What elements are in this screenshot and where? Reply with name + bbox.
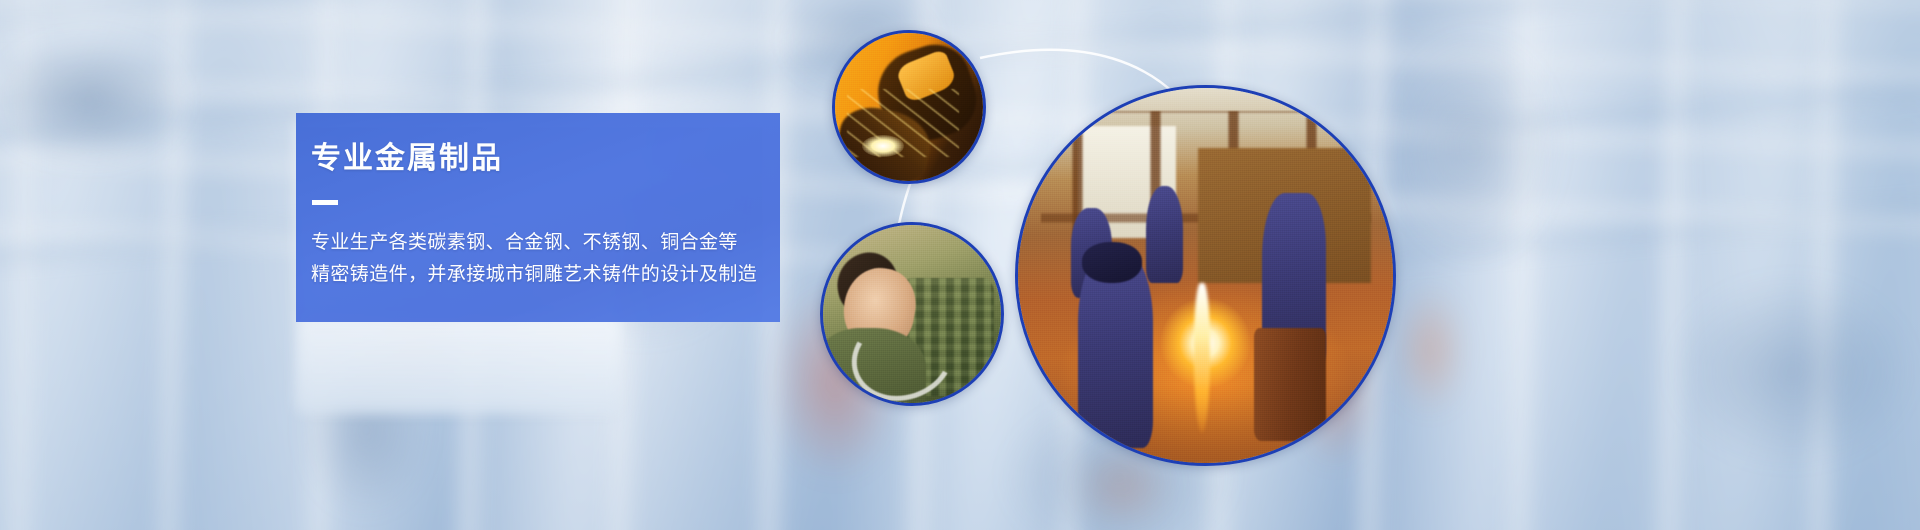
text-panel: 专业金属制品 专业生产各类碳素钢、合金钢、不锈钢、铜合金等 精密铸造件，并承接城… — [296, 113, 780, 322]
panel-description-line-2: 精密铸造件，并承接城市铜雕艺术铸件的设计及制造 — [311, 259, 780, 291]
text-panel-content: 专业金属制品 专业生产各类碳素钢、合金钢、不锈钢、铜合金等 精密铸造件，并承接城… — [296, 113, 780, 322]
foundry-photo-grain — [1018, 88, 1393, 463]
panel-description: 专业生产各类碳素钢、合金钢、不锈钢、铜合金等 精密铸造件，并承接城市铜雕艺术铸件… — [311, 227, 780, 291]
panel-divider-rule — [312, 200, 338, 205]
panel-description-line-1: 专业生产各类碳素钢、合金钢、不锈钢、铜合金等 — [311, 227, 780, 259]
panel-title: 专业金属制品 — [311, 144, 780, 174]
photo-collage — [820, 0, 1520, 530]
technician-photo-grain — [823, 225, 1001, 403]
foundry-photo — [1015, 85, 1396, 466]
technician-photo — [820, 222, 1004, 406]
welding-photo-grain — [835, 33, 983, 181]
hero-banner: 专业金属制品 专业生产各类碳素钢、合金钢、不锈钢、铜合金等 精密铸造件，并承接城… — [0, 0, 1920, 530]
welding-photo — [832, 30, 986, 184]
